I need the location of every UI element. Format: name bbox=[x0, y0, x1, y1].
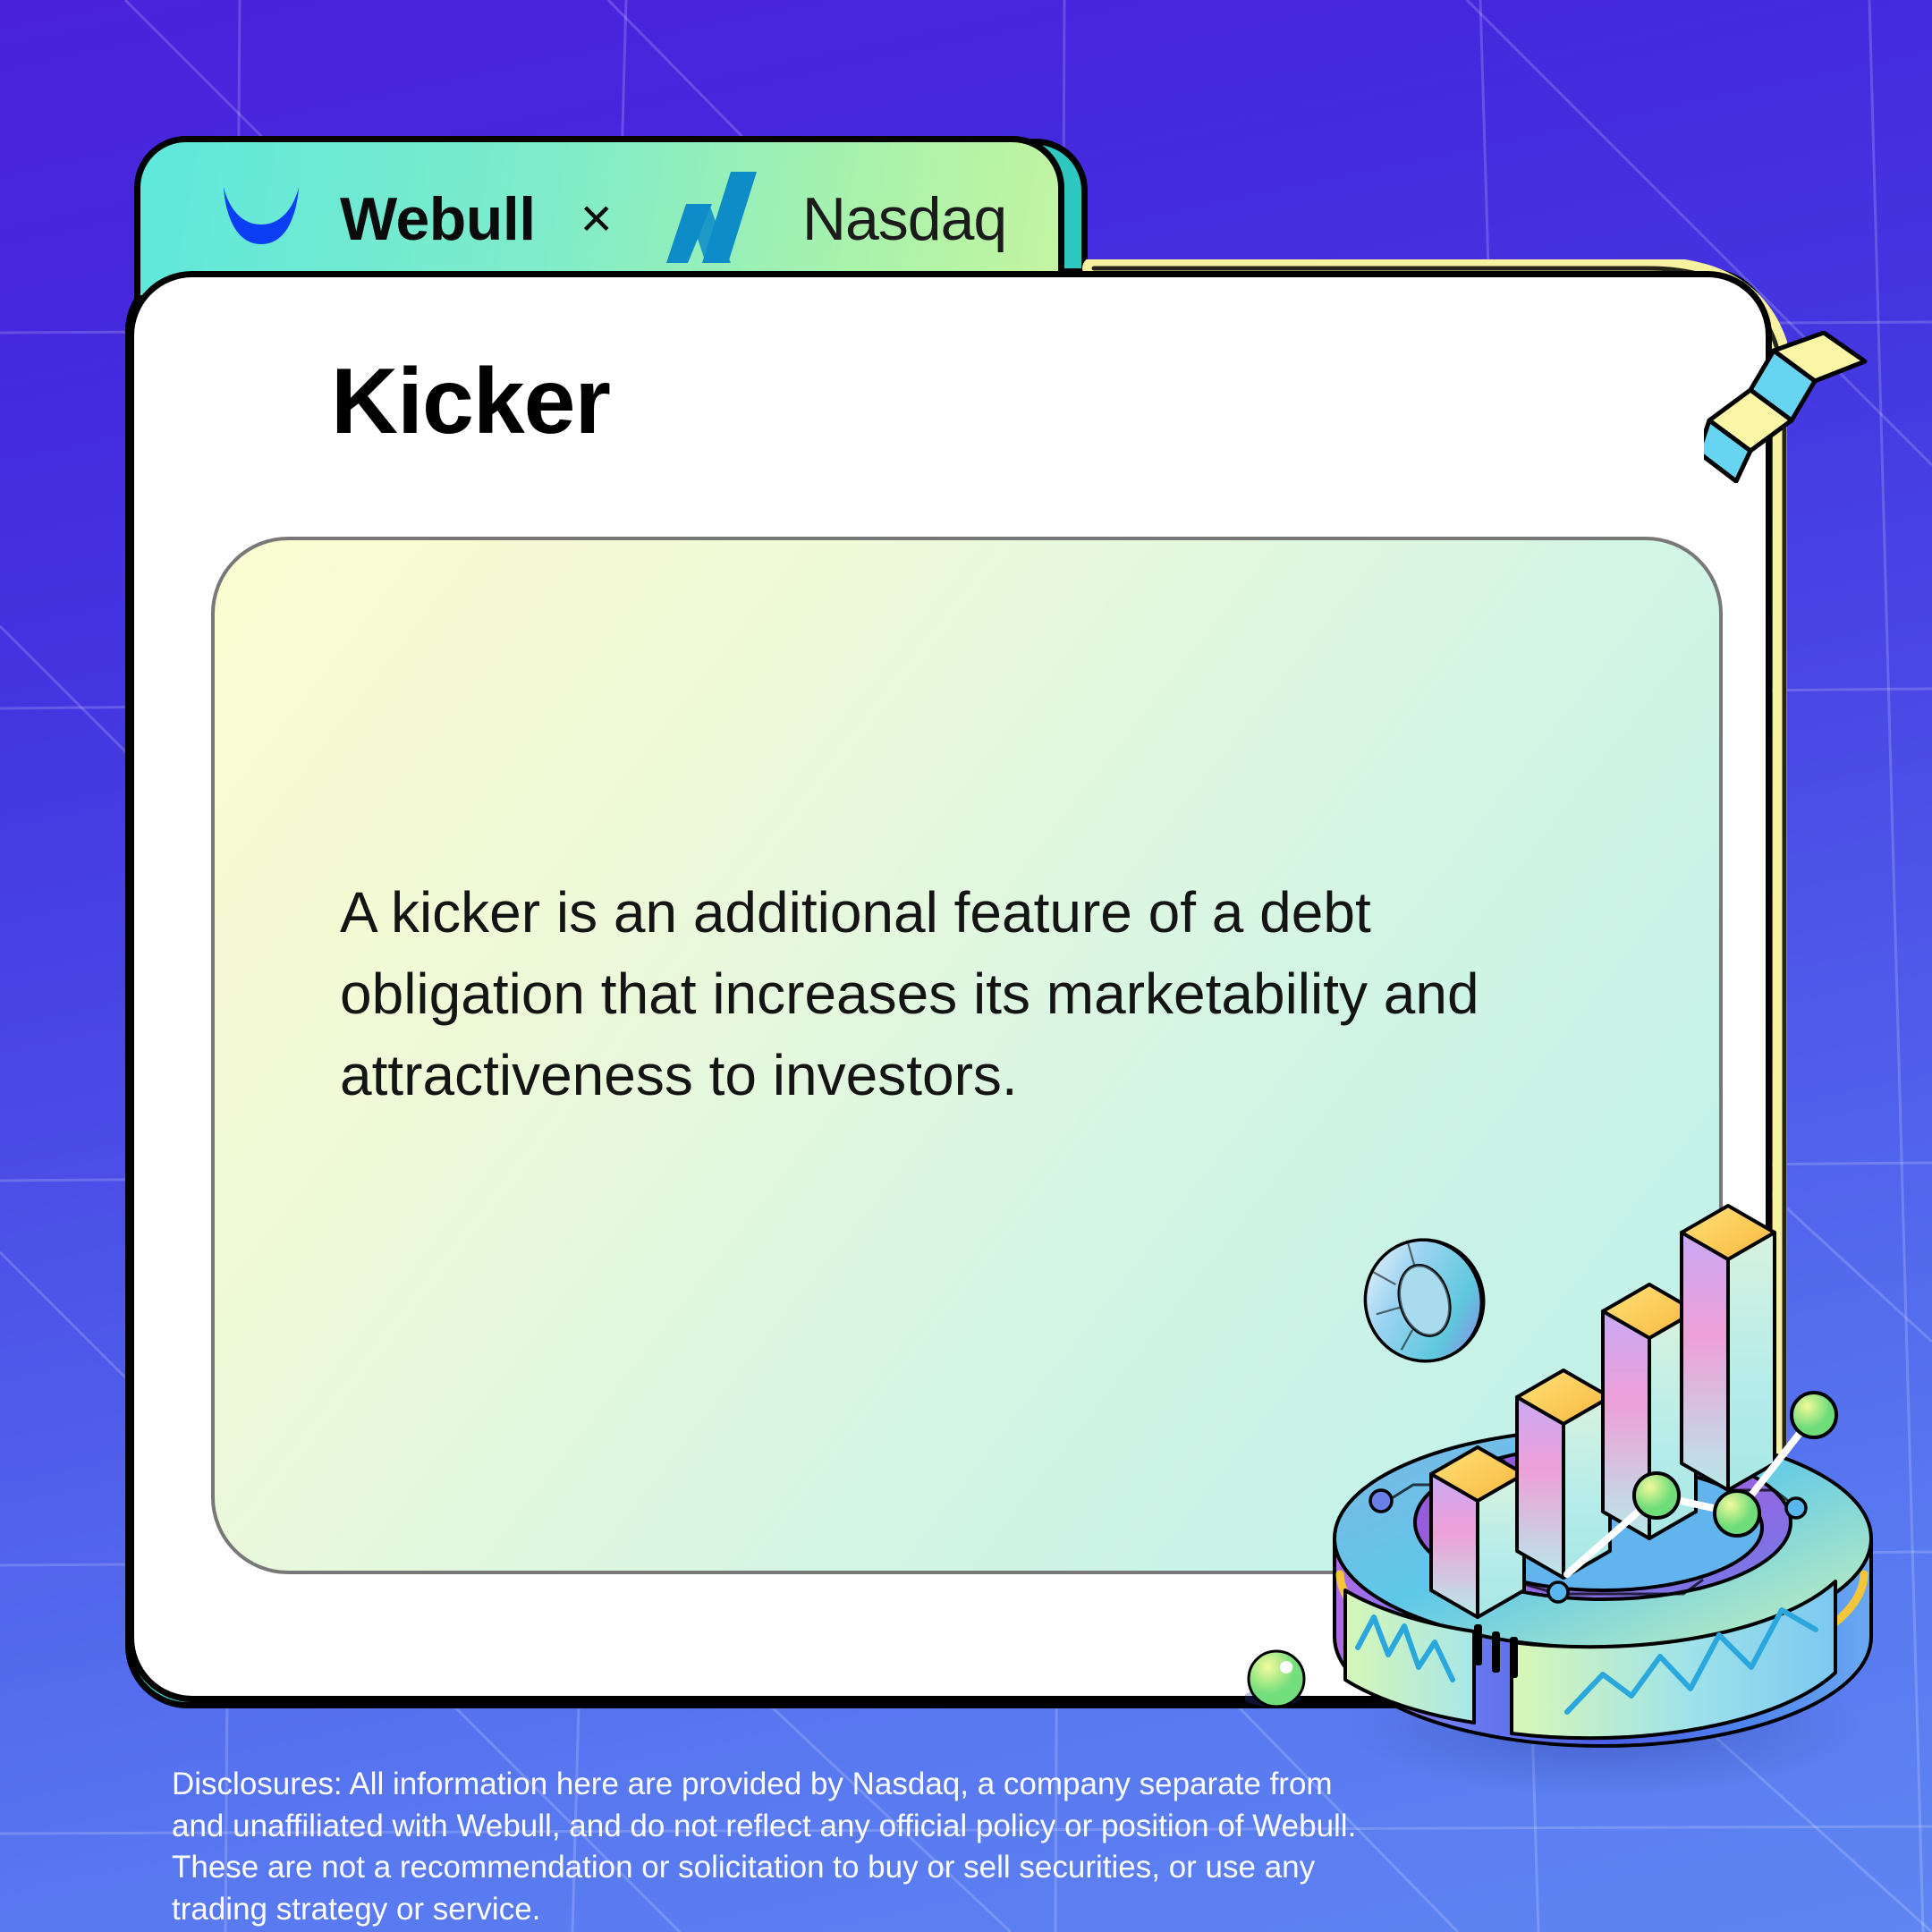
nasdaq-wordmark: Nasdaq bbox=[802, 189, 1006, 250]
disclosure-text: Disclosures: All information here are pr… bbox=[172, 1764, 1375, 1930]
disc-node-right bbox=[1786, 1498, 1806, 1518]
donut-torus-3d bbox=[1351, 1225, 1497, 1375]
poster-canvas: Webull × Nasdaq Kicker A kicker is an ad… bbox=[0, 0, 1932, 1932]
nasdaq-n-logo-icon bbox=[663, 170, 768, 268]
webull-crescent-moon-icon bbox=[216, 174, 306, 264]
bar-4 bbox=[1682, 1206, 1775, 1490]
definition-text: A kicker is an additional feature of a d… bbox=[340, 872, 1619, 1116]
collab-separator: × bbox=[580, 191, 613, 247]
disc-node-left bbox=[1370, 1490, 1392, 1512]
green-sphere-accent bbox=[1245, 1648, 1308, 1710]
webull-wordmark: Webull bbox=[340, 189, 536, 250]
disc-node-front bbox=[1548, 1582, 1568, 1602]
line-node-2 bbox=[1715, 1491, 1759, 1536]
sparkle-diamond-decoration bbox=[1704, 331, 1901, 483]
line-node-1 bbox=[1634, 1473, 1679, 1518]
line-node-3 bbox=[1792, 1393, 1836, 1437]
page-title: Kicker bbox=[331, 353, 610, 451]
isometric-data-platform-illustration bbox=[1299, 1190, 1907, 1816]
bar-1 bbox=[1431, 1447, 1524, 1617]
